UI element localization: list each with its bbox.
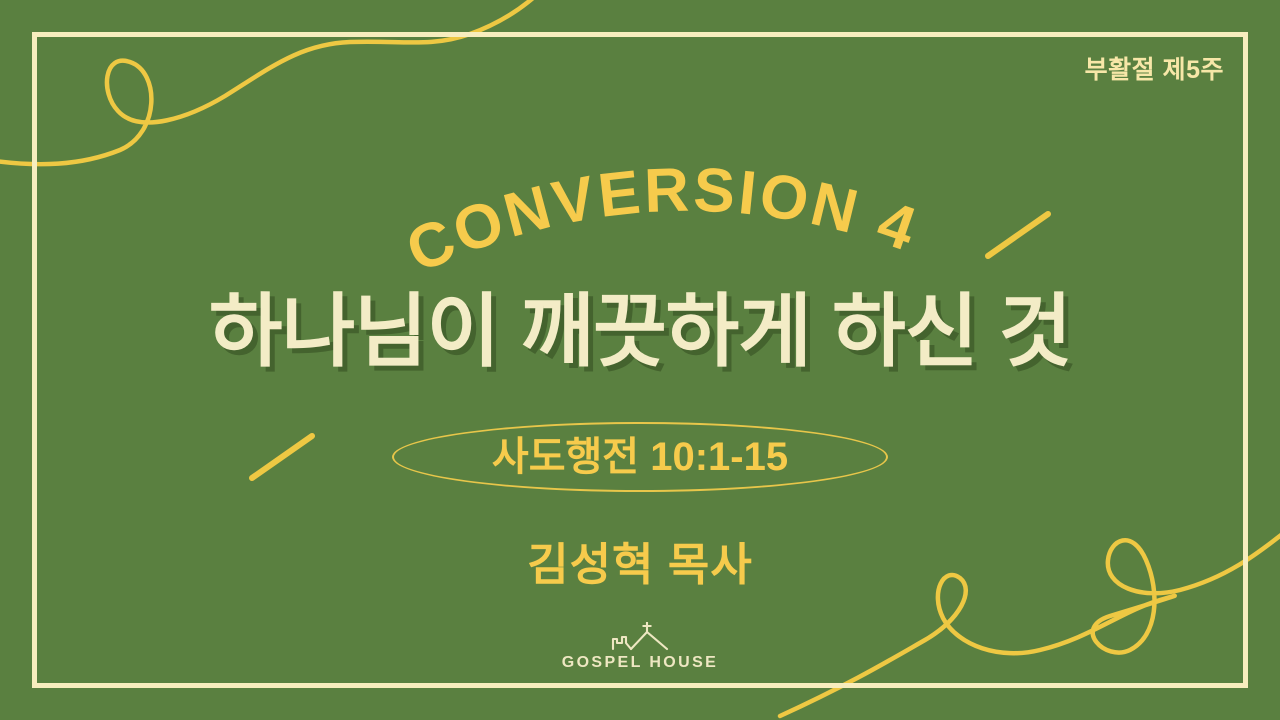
brand-logo: GOSPEL HOUSE <box>0 621 1280 672</box>
sermon-title-slide: 부활절 제5주 CONVERSION 4 하나님이 깨끗하게 하신 것 사도행전… <box>0 0 1280 720</box>
church-cross-icon <box>609 621 671 651</box>
scripture-reference-text: 사도행전 10:1-15 <box>0 431 1280 483</box>
sermon-main-title: 하나님이 깨끗하게 하신 것 <box>0 287 1280 377</box>
series-title-text: CONVERSION 4 <box>397 156 927 287</box>
speaker-name: 김성혁 목사 <box>0 528 1280 593</box>
liturgical-week-label: 부활절 제5주 <box>1085 55 1224 85</box>
series-title-arc: CONVERSION 4 <box>0 155 1280 285</box>
brand-logo-text: GOSPEL HOUSE <box>562 654 719 672</box>
scripture-reference-group: 사도행전 10:1-15 <box>0 422 1280 496</box>
